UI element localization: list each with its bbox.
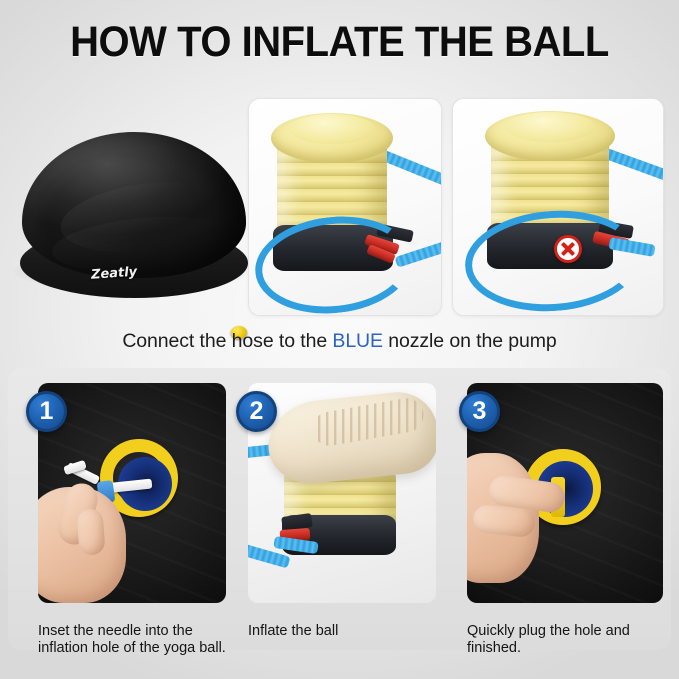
steps-panel: 1 Inset the needle into the inflation ho…: [8, 368, 671, 650]
ball-dome: [22, 132, 246, 278]
step-3: 3 Quickly plug the hole and finished.: [455, 383, 663, 603]
step-badge-3: 3: [459, 391, 500, 432]
product-balance-ball-image: Zeatly: [8, 120, 258, 315]
pump-photo-correct: [249, 99, 441, 315]
mid-caption-after: nozzle on the pump: [383, 330, 557, 352]
pump-top-cap-inner: [505, 112, 595, 142]
mid-caption-highlight: BLUE: [332, 330, 383, 352]
hose-loop: [462, 205, 645, 316]
step-2-caption: Inflate the ball: [248, 623, 448, 640]
hose-loop: [250, 209, 417, 316]
step-1: 1 Inset the needle into the inflation ho…: [26, 383, 226, 603]
page-title: HOW TO INFLATE THE BALL: [0, 18, 679, 67]
step-badge-2: 2: [236, 391, 277, 432]
pump-correct-card: [248, 98, 442, 316]
finger-thumb: [76, 508, 105, 556]
mid-caption-before: Connect the hose to the: [122, 330, 332, 352]
pump-photo-wrong: [453, 99, 663, 315]
page-title-text: HOW TO INFLATE THE BALL: [24, 18, 655, 67]
step-2: 2 Inflate the ball: [236, 383, 436, 603]
pump-wrong-card: [452, 98, 664, 316]
pump-top-cap-inner: [289, 114, 375, 144]
step-badge-1: 1: [26, 391, 67, 432]
mid-caption: Connect the hose to the BLUE nozzle on t…: [0, 330, 679, 353]
step-3-caption: Quickly plug the hole and finished.: [467, 623, 667, 657]
prohibition-x-icon: [554, 235, 582, 263]
step-1-caption: Inset the needle into the inflation hole…: [38, 623, 238, 657]
